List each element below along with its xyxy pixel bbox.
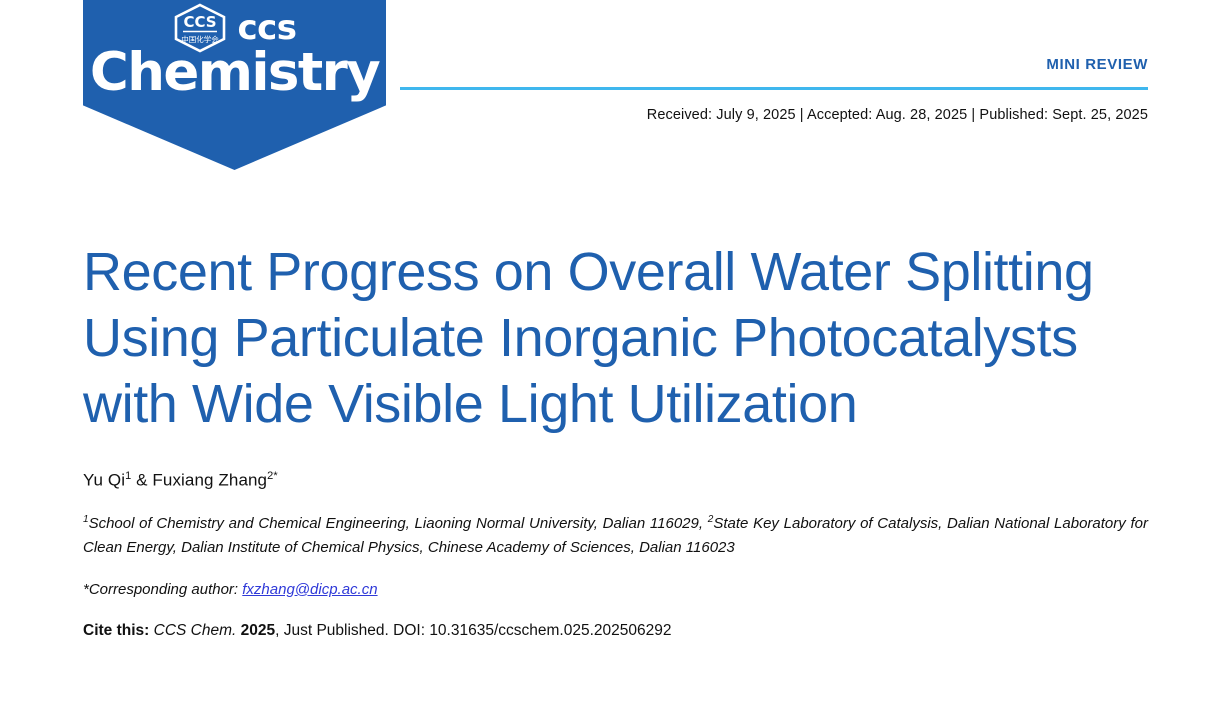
citation-line: Cite this: CCS Chem. 2025, Just Publishe… [83, 620, 1148, 642]
masthead: CCS 中国化学会 ccs Chemistry MINI REVIEW Rece… [0, 0, 1220, 180]
affiliations: 1School of Chemistry and Chemical Engine… [83, 512, 1148, 559]
header-right-block: MINI REVIEW Received: July 9, 2025 | Acc… [400, 56, 1148, 123]
brand-inner: CCS 中国化学会 ccs Chemistry [83, 0, 386, 106]
article-type-kicker: MINI REVIEW [400, 56, 1148, 74]
cite-this-label: Cite this: [83, 622, 154, 639]
corresponding-author-line: *Corresponding author: fxzhang@dicp.ac.c… [83, 581, 1148, 598]
corresponding-author-label: *Corresponding author: [83, 581, 242, 598]
author-separator: & [131, 470, 152, 489]
brand-wordmark-ccs: ccs [237, 11, 296, 45]
article-title: Recent Progress on Overall Water Splitti… [83, 240, 1148, 438]
citation-journal-name: CCS Chem. [154, 622, 237, 639]
affiliation-text-1: School of Chemistry and Chemical Enginee… [89, 515, 708, 532]
citation-doi: , Just Published. DOI: 10.31635/ccschem.… [275, 622, 671, 639]
svg-text:CCS: CCS [184, 13, 217, 31]
author-name-1[interactable]: Yu Qi [83, 470, 125, 489]
article-header: Recent Progress on Overall Water Splitti… [83, 240, 1148, 641]
citation-year: 2025 [241, 622, 275, 639]
corresponding-author-email-link[interactable]: fxzhang@dicp.ac.cn [242, 581, 377, 598]
author-name-2[interactable]: Fuxiang Zhang [152, 470, 267, 489]
brand-wordmark-chemistry: Chemistry [83, 45, 386, 101]
author-list: Yu Qi1 & Fuxiang Zhang2* [83, 470, 1148, 491]
journal-brand-banner[interactable]: CCS 中国化学会 ccs Chemistry [83, 0, 386, 170]
publication-dates: Received: July 9, 2025 | Accepted: Aug. … [400, 107, 1148, 123]
header-divider-rule [400, 87, 1148, 90]
author-affiliation-marker-2: 2* [267, 470, 278, 482]
